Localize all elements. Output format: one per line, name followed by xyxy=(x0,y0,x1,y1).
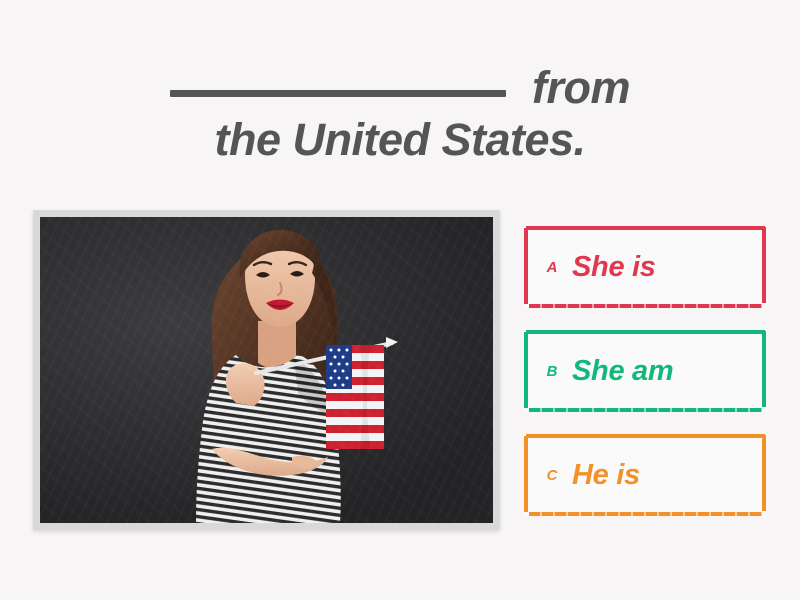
option-label-c: He is xyxy=(572,459,640,492)
option-label-b: She am xyxy=(572,355,673,388)
option-border-top xyxy=(526,434,765,438)
option-letter-c: C xyxy=(532,467,572,484)
answer-option-a[interactable]: A She is xyxy=(524,226,766,308)
us-flag xyxy=(326,345,384,449)
option-border-right xyxy=(762,227,766,303)
question-text-after-blank: from xyxy=(520,62,630,113)
option-label-a: She is xyxy=(572,251,656,284)
answer-option-c[interactable]: C He is xyxy=(524,434,766,516)
answer-options-list: A She is B She am C He is xyxy=(524,226,766,516)
question-image-frame xyxy=(33,210,500,530)
option-border-right xyxy=(762,331,766,407)
answer-blank-line xyxy=(170,90,506,97)
option-border-top xyxy=(526,330,765,334)
option-border-bottom xyxy=(529,408,762,412)
question-second-line: the United States. xyxy=(214,114,585,165)
answer-option-b[interactable]: B She am xyxy=(524,330,766,412)
option-border-bottom xyxy=(529,512,762,516)
option-border-left xyxy=(524,436,528,512)
option-border-top xyxy=(526,226,765,230)
option-border-left xyxy=(524,332,528,408)
option-border-right xyxy=(762,435,766,511)
option-border-bottom xyxy=(529,304,762,308)
question-prompt: from the United States. xyxy=(40,62,760,166)
woman-with-flag-illustration xyxy=(40,217,493,523)
option-letter-b: B xyxy=(532,363,572,380)
option-border-left xyxy=(524,228,528,304)
option-letter-a: A xyxy=(532,259,572,276)
question-image xyxy=(40,217,493,523)
